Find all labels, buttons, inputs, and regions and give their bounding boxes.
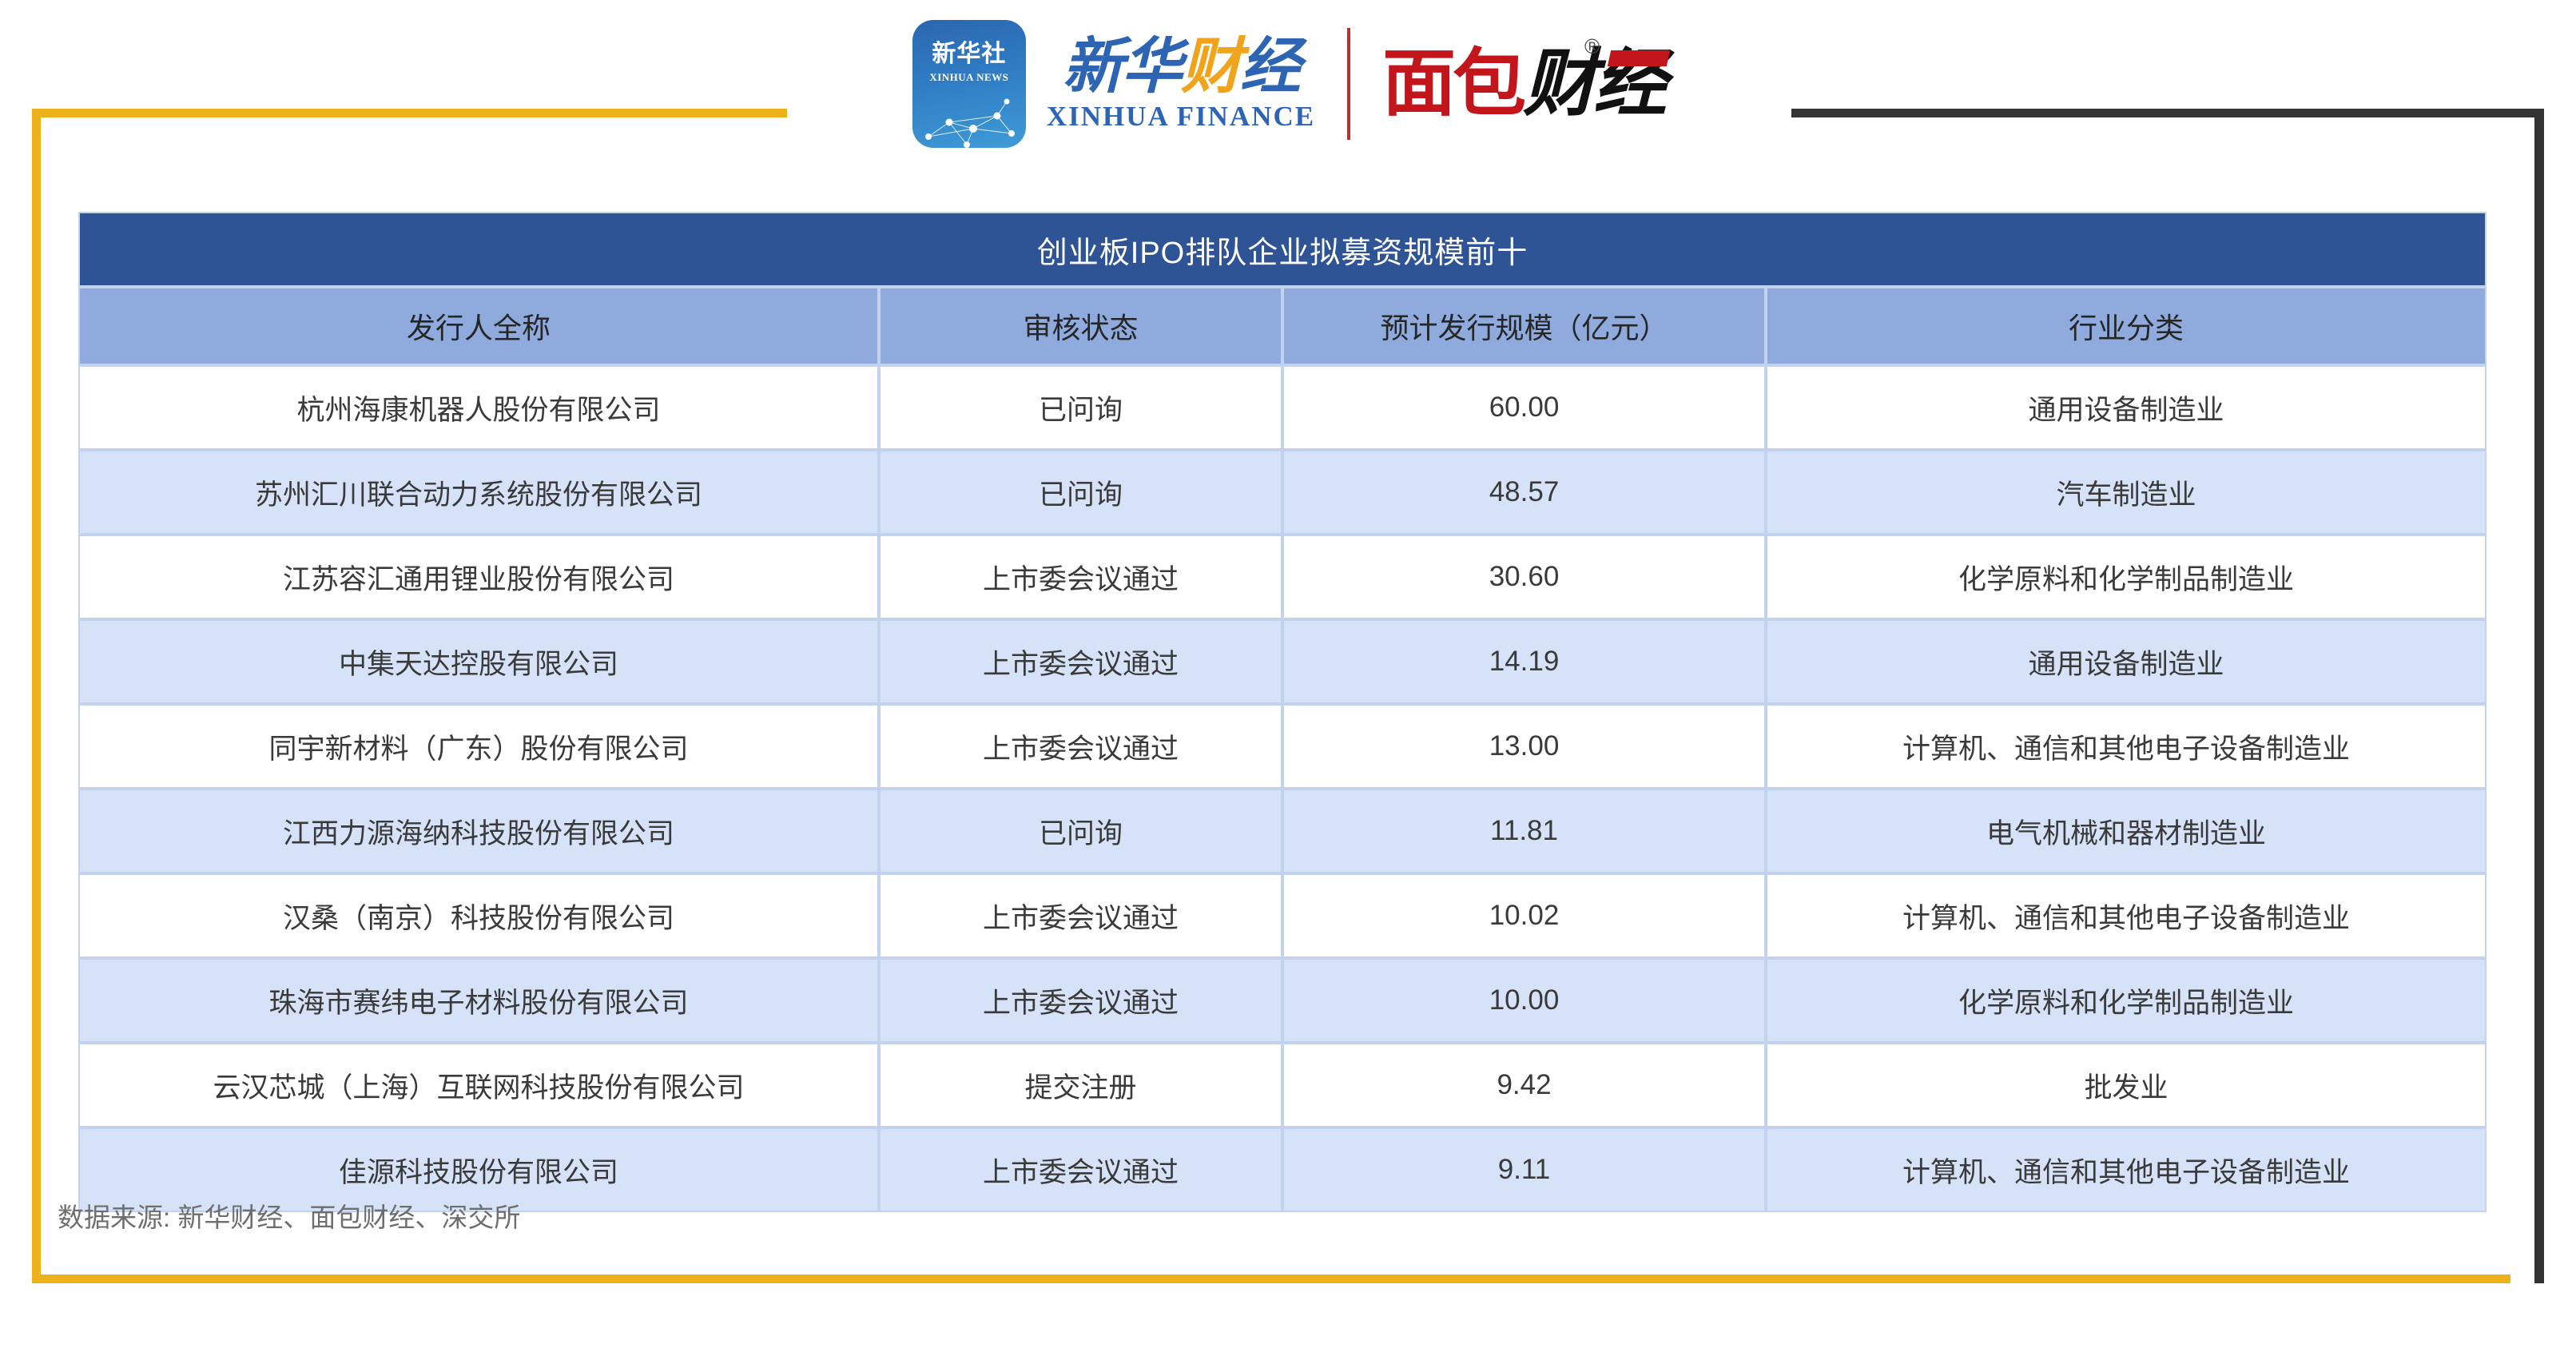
cell-scale: 14.19 — [1282, 619, 1766, 704]
cell-issuer: 苏州汇川联合动力系统股份有限公司 — [78, 450, 879, 535]
mianbao-caijing-logo: 面包 财经 ® — [1382, 47, 1664, 121]
table-title: 创业板IPO排队企业拟募资规模前十 — [78, 212, 2487, 287]
cell-industry: 化学原料和化学制品制造业 — [1766, 958, 2487, 1043]
registered-mark-icon: ® — [1584, 34, 1600, 59]
cell-industry: 计算机、通信和其他电子设备制造业 — [1766, 1127, 2487, 1212]
cell-scale: 13.00 — [1282, 704, 1766, 789]
cell-issuer: 杭州海康机器人股份有限公司 — [78, 365, 879, 450]
cell-scale: 10.00 — [1282, 958, 1766, 1043]
cell-status: 上市委会议通过 — [879, 873, 1282, 958]
table-row: 江西力源海纳科技股份有限公司 已问询 11.81 电气机械和器材制造业 — [78, 789, 2487, 873]
logo-divider — [1347, 28, 1350, 140]
table-body: 杭州海康机器人股份有限公司 已问询 60.00 通用设备制造业 苏州汇川联合动力… — [78, 365, 2487, 1212]
cell-scale: 9.42 — [1282, 1043, 1766, 1127]
mianbao-red-label: 面包 — [1382, 47, 1523, 121]
cell-issuer: 江苏容汇通用锂业股份有限公司 — [78, 535, 879, 619]
table-row: 杭州海康机器人股份有限公司 已问询 60.00 通用设备制造业 — [78, 365, 2487, 450]
column-header-scale: 预计发行规模（亿元） — [1282, 287, 1766, 365]
xinhua-finance-cn-label: 新华财经 — [1063, 35, 1299, 99]
frame-left-gold — [32, 109, 41, 1283]
cell-scale: 48.57 — [1282, 450, 1766, 535]
cell-industry: 计算机、通信和其他电子设备制造业 — [1766, 704, 2487, 789]
cell-industry: 通用设备制造业 — [1766, 619, 2487, 704]
cell-industry: 电气机械和器材制造业 — [1766, 789, 2487, 873]
xinhua-finance-en-label: XINHUA FINANCE — [1047, 101, 1315, 133]
cell-scale: 11.81 — [1282, 789, 1766, 873]
xinhua-news-cn-label: 新华社 — [912, 42, 1026, 66]
cell-industry: 计算机、通信和其他电子设备制造业 — [1766, 873, 2487, 958]
cell-status: 上市委会议通过 — [879, 619, 1282, 704]
cell-status: 上市委会议通过 — [879, 1127, 1282, 1212]
mianbao-dash-accent — [1608, 50, 1670, 66]
network-nodes-icon — [917, 87, 1021, 148]
cell-issuer: 同宇新材料（广东）股份有限公司 — [78, 704, 879, 789]
table-row: 汉桑（南京）科技股份有限公司 上市委会议通过 10.02 计算机、通信和其他电子… — [78, 873, 2487, 958]
cell-status: 提交注册 — [879, 1043, 1282, 1127]
column-header-issuer: 发行人全称 — [78, 287, 879, 365]
cell-scale: 30.60 — [1282, 535, 1766, 619]
table-row: 珠海市赛纬电子材料股份有限公司 上市委会议通过 10.00 化学原料和化学制品制… — [78, 958, 2487, 1043]
cell-status: 已问询 — [879, 365, 1282, 450]
table-row: 江苏容汇通用锂业股份有限公司 上市委会议通过 30.60 化学原料和化学制品制造… — [78, 535, 2487, 619]
ipo-table-container: 创业板IPO排队企业拟募资规模前十 发行人全称 审核状态 预计发行规模（亿元） … — [78, 212, 2487, 1212]
frame-bottom-gold — [32, 1275, 2510, 1283]
cell-scale: 60.00 — [1282, 365, 1766, 450]
table-row: 同宇新材料（广东）股份有限公司 上市委会议通过 13.00 计算机、通信和其他电… — [78, 704, 2487, 789]
cell-issuer: 汉桑（南京）科技股份有限公司 — [78, 873, 879, 958]
cell-issuer: 江西力源海纳科技股份有限公司 — [78, 789, 879, 873]
cell-issuer: 中集天达控股有限公司 — [78, 619, 879, 704]
cell-industry: 汽车制造业 — [1766, 450, 2487, 535]
table-row: 云汉芯城（上海）互联网科技股份有限公司 提交注册 9.42 批发业 — [78, 1043, 2487, 1127]
table-header-row: 发行人全称 审核状态 预计发行规模（亿元） 行业分类 — [78, 287, 2487, 365]
cell-status: 已问询 — [879, 450, 1282, 535]
xinhua-news-en-label: XINHUA NEWS — [912, 71, 1026, 84]
frame-right-dark — [2534, 109, 2544, 1283]
cell-industry: 化学原料和化学制品制造业 — [1766, 535, 2487, 619]
table-title-row: 创业板IPO排队企业拟募资规模前十 — [78, 212, 2487, 287]
cell-issuer: 珠海市赛纬电子材料股份有限公司 — [78, 958, 879, 1043]
xinhua-news-logo: 新华社 XINHUA NEWS — [912, 20, 1026, 148]
column-header-industry: 行业分类 — [1766, 287, 2487, 365]
cell-status: 已问询 — [879, 789, 1282, 873]
table-row: 苏州汇川联合动力系统股份有限公司 已问询 48.57 汽车制造业 — [78, 450, 2487, 535]
xinhua-finance-logo: 新华财经 XINHUA FINANCE — [1047, 35, 1315, 133]
source-note: 数据来源: 新华财经、面包财经、深交所 — [58, 1196, 520, 1235]
cell-industry: 批发业 — [1766, 1043, 2487, 1127]
cell-status: 上市委会议通过 — [879, 958, 1282, 1043]
ipo-table: 创业板IPO排队企业拟募资规模前十 发行人全称 审核状态 预计发行规模（亿元） … — [78, 212, 2487, 1212]
cell-issuer: 云汉芯城（上海）互联网科技股份有限公司 — [78, 1043, 879, 1127]
table-row: 中集天达控股有限公司 上市委会议通过 14.19 通用设备制造业 — [78, 619, 2487, 704]
column-header-status: 审核状态 — [879, 287, 1282, 365]
cell-industry: 通用设备制造业 — [1766, 365, 2487, 450]
cell-scale: 10.02 — [1282, 873, 1766, 958]
cell-status: 上市委会议通过 — [879, 704, 1282, 789]
cell-scale: 9.11 — [1282, 1127, 1766, 1212]
cell-status: 上市委会议通过 — [879, 535, 1282, 619]
logo-bar: 新华社 XINHUA NEWS 新华财经 XINHUA FINANCE — [0, 0, 2576, 168]
